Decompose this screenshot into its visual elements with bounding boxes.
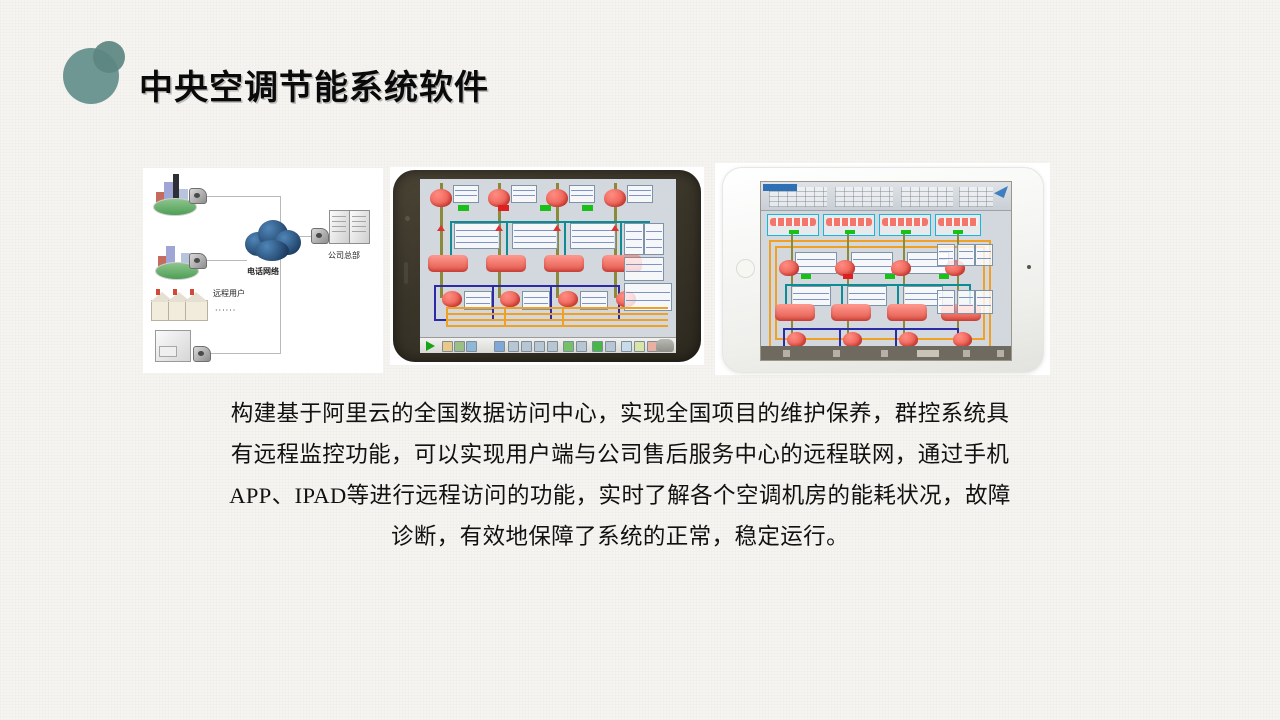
phone-photo	[390, 167, 704, 365]
wire-city1-cloud	[203, 196, 281, 197]
status-badge-1	[458, 205, 469, 211]
readout-mid-3	[570, 223, 616, 249]
vendor-logo-badge	[656, 339, 674, 352]
tablet-control-6	[975, 290, 993, 314]
pump-bottom-2	[500, 291, 520, 307]
chiller-2	[486, 255, 526, 272]
pump-top-4	[604, 189, 626, 207]
pump-top-1	[430, 189, 452, 207]
modem-icon-1	[189, 188, 207, 204]
status-badge-3	[540, 205, 551, 211]
orange-riser-3	[562, 307, 564, 327]
tablet-control-2	[957, 244, 975, 266]
house-3	[185, 300, 208, 321]
control-module-1	[624, 223, 644, 255]
modem-icon-hq	[311, 228, 329, 244]
orange-loop-4	[446, 325, 668, 327]
tablet-readout-4	[791, 286, 831, 306]
blue-branch-2	[492, 285, 494, 321]
tablet-chiller-2	[831, 304, 871, 321]
body-line-1: 构建基于阿里云的全国数据访问中心，实现全国项目的维护保养，群控系统具	[196, 393, 1044, 434]
readout-top-3	[569, 185, 595, 203]
tablet-toolbar-keyboard-icon[interactable]	[917, 350, 939, 357]
teal-branch-1	[450, 221, 452, 257]
tablet-teal-branch-1	[785, 284, 787, 306]
tablet-control-5	[957, 290, 975, 314]
control-module-3	[624, 257, 664, 281]
wire-city2-cloud	[203, 260, 247, 261]
pump-bottom-3	[558, 291, 578, 307]
page-title: 中央空调节能系统软件	[139, 60, 489, 109]
header-table-4	[959, 187, 993, 207]
tablet-screen[interactable]	[760, 181, 1012, 361]
network-topology-image: 电话网络 远程用户 ······ 公司总部	[143, 168, 383, 373]
valve-1	[437, 225, 445, 231]
phone-device-body	[393, 170, 701, 362]
tablet-camera-icon	[1027, 265, 1031, 269]
tablet-badge-4	[939, 274, 949, 279]
header-table-2	[835, 187, 893, 207]
toolbar-icon-11[interactable]	[592, 341, 603, 352]
toolbar-icon-6[interactable]	[521, 341, 532, 352]
modem-icon-2	[189, 253, 207, 269]
chiller-3	[544, 255, 584, 272]
home-button[interactable]	[736, 259, 755, 278]
tablet-device-body	[722, 167, 1044, 373]
condenser-left-riser	[769, 240, 771, 348]
teal-branch-4	[620, 221, 622, 257]
modem-icon-3	[193, 346, 211, 362]
double-circle-logo	[63, 38, 133, 108]
play-icon[interactable]	[426, 341, 435, 351]
status-badge-4	[582, 205, 593, 211]
toolbar-icon-2[interactable]	[454, 341, 465, 352]
header-title-bar	[763, 184, 797, 191]
toolbar-icon-5[interactable]	[508, 341, 519, 352]
body-line-2: 有远程监控功能，可以实现用户端与公司售后服务中心的远程联网，通过手机	[196, 434, 1044, 475]
toolbar-icon-4[interactable]	[494, 341, 505, 352]
orange-riser-1	[446, 307, 448, 327]
body-line-4: 诊断，有效地保障了系统的正常，稳定运行。	[196, 516, 1044, 557]
readout-mid-2	[512, 223, 558, 249]
tablet-photo	[715, 163, 1050, 375]
valve-2	[495, 225, 503, 231]
body-line-3: APP、IPAD等进行远程访问的功能，实时了解各个空调机房的能耗状况，故障	[196, 475, 1044, 516]
tablet-chiller-1	[775, 304, 815, 321]
tablet-badge-1	[801, 274, 811, 279]
tablet-toolbar-tool-icon[interactable]	[881, 350, 888, 357]
toolbar-icon-9[interactable]	[563, 341, 574, 352]
tablet-readout-1	[795, 252, 837, 274]
teal-branch-3	[564, 221, 566, 257]
pump-bottom-1	[442, 291, 462, 307]
control-module-2	[644, 223, 664, 255]
blue-branch-3	[550, 285, 552, 321]
blue-branch-1	[434, 285, 436, 321]
orange-riser-2	[504, 307, 506, 327]
toolbar-icon-3[interactable]	[466, 341, 477, 352]
toolbar-icon-7[interactable]	[534, 341, 545, 352]
cloud-puff-4	[255, 240, 289, 261]
status-badge-2	[498, 205, 509, 211]
tablet-pump-top-1	[779, 260, 799, 276]
tablet-readout-2	[851, 252, 893, 274]
orange-loop-3	[446, 319, 668, 321]
tablet-readout-5	[847, 286, 887, 306]
toolbar-icon-1[interactable]	[442, 341, 453, 352]
tablet-blue-header	[783, 328, 959, 330]
scada-diagram-phone	[420, 179, 676, 353]
server-rack-2	[349, 210, 370, 244]
tablet-pump-bottom-3	[899, 332, 918, 347]
tablet-toolbar-close-icon[interactable]	[783, 350, 790, 357]
blue-header	[434, 285, 620, 287]
readout-top-1	[453, 185, 479, 203]
tablet-control-3	[975, 244, 993, 266]
scada-toolbar-tablet[interactable]	[761, 346, 1011, 360]
remote-users-label: 远程用户	[213, 288, 245, 299]
header-table-3	[901, 187, 953, 207]
tablet-teal-branch-2	[841, 284, 843, 306]
orange-loop-1	[446, 307, 668, 309]
phone-screen[interactable]	[420, 179, 676, 353]
tablet-control-4	[937, 290, 955, 314]
wire-workstation-cloud	[203, 353, 281, 354]
tablet-pump-bottom-4	[953, 332, 972, 347]
toolbar-icon-14[interactable]	[634, 341, 645, 352]
phone-camera-icon	[405, 216, 410, 221]
tablet-chiller-3	[887, 304, 927, 321]
telephone-network-cloud-icon	[245, 218, 301, 262]
tablet-toolbar-settings-icon[interactable]	[963, 350, 970, 357]
scada-toolbar-phone[interactable]	[420, 337, 676, 353]
teal-branch-2	[506, 221, 508, 257]
toolbar-icon-10[interactable]	[576, 341, 587, 352]
server-rack-1	[329, 210, 350, 244]
workstation-icon	[155, 330, 191, 362]
headquarters-label: 公司总部	[328, 250, 360, 261]
readout-mid-1	[454, 223, 500, 249]
phone-speaker-icon	[404, 262, 408, 284]
tablet-pump-bottom-2	[843, 332, 862, 347]
readout-top-2	[511, 185, 537, 203]
tablet-toolbar-hide-icon[interactable]	[997, 350, 1004, 357]
toolbar-icon-13[interactable]	[621, 341, 632, 352]
readout-top-4	[627, 185, 653, 203]
logo-circle-small	[93, 41, 125, 73]
house-cluster	[151, 293, 209, 321]
tablet-badge-2	[843, 274, 853, 279]
chiller-1	[428, 255, 468, 272]
toolbar-icon-8[interactable]	[547, 341, 558, 352]
valve-4	[611, 225, 619, 231]
valve-3	[553, 225, 561, 231]
tablet-toolbar-refresh-icon[interactable]	[833, 350, 840, 357]
scada-diagram-tablet	[761, 182, 1011, 360]
tablet-badge-3	[885, 274, 895, 279]
tablet-control-1	[937, 244, 955, 266]
toolbar-icon-12[interactable]	[605, 341, 616, 352]
ellipsis-label: ······	[215, 306, 236, 315]
slide-canvas: 中央空调节能系统软件	[0, 0, 1280, 720]
headquarters-server-icon	[329, 210, 371, 244]
tablet-teal-branch-3	[897, 284, 899, 306]
condenser-inner-left	[775, 246, 777, 340]
orange-loop-2	[446, 313, 668, 315]
tablet-pump-bottom-1	[787, 332, 806, 347]
body-paragraph: 构建基于阿里云的全国数据访问中心，实现全国项目的维护保养，群控系统具 有远程监控…	[196, 393, 1044, 557]
cloud-label: 电话网络	[247, 266, 279, 277]
